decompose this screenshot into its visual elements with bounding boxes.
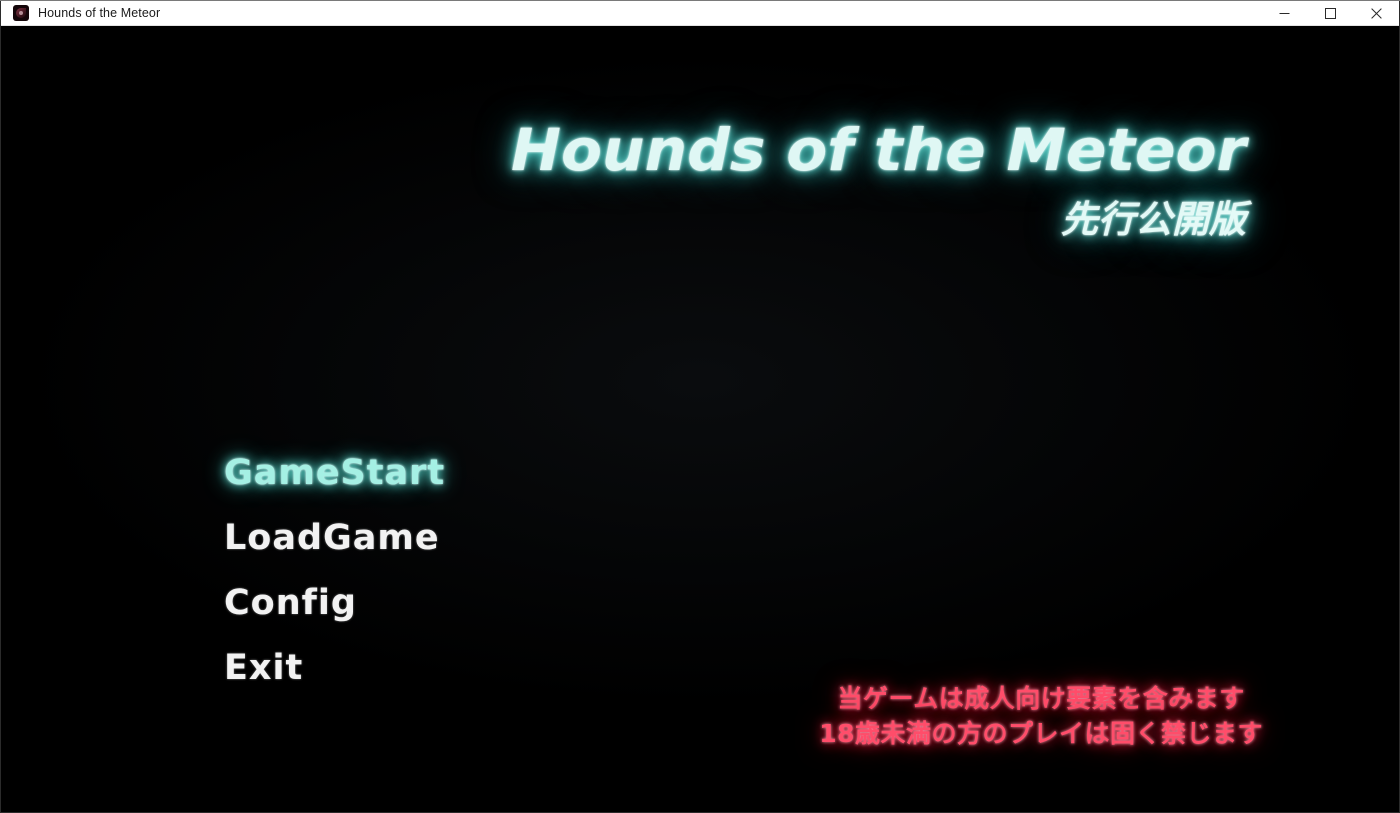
menu-item-game-start[interactable]: GameStart xyxy=(224,456,445,521)
age-warning-line-2: 18歳未満の方のプレイは固く禁じます xyxy=(819,716,1263,751)
game-logo: Hounds of the Meteor 先行公開版 xyxy=(1,121,1246,238)
maximize-icon xyxy=(1325,8,1336,19)
title-bar[interactable]: Hounds of the Meteor xyxy=(1,1,1399,26)
age-warning-notice: 当ゲームは成人向け要素を含みます 18歳未満の方のプレイは固く禁じます xyxy=(819,681,1263,751)
minimize-icon xyxy=(1279,8,1290,19)
main-menu: GameStart LoadGame Config Exit xyxy=(224,456,445,716)
menu-item-load-game[interactable]: LoadGame xyxy=(224,521,445,586)
close-icon xyxy=(1371,8,1382,19)
game-logo-subtitle: 先行公開版 xyxy=(1,201,1246,238)
close-button[interactable] xyxy=(1353,1,1399,26)
menu-item-exit[interactable]: Exit xyxy=(224,651,445,716)
age-warning-line-1: 当ゲームは成人向け要素を含みます xyxy=(819,681,1263,716)
window-controls xyxy=(1261,1,1399,26)
minimize-button[interactable] xyxy=(1261,1,1307,26)
maximize-button[interactable] xyxy=(1307,1,1353,26)
app-icon xyxy=(13,5,29,21)
application-window: Hounds of the Meteor Hounds xyxy=(0,0,1400,813)
menu-item-config[interactable]: Config xyxy=(224,586,445,651)
game-viewport[interactable]: Hounds of the Meteor 先行公開版 GameStart Loa… xyxy=(1,26,1399,812)
game-logo-title: Hounds of the Meteor xyxy=(1,121,1246,179)
window-title: Hounds of the Meteor xyxy=(38,6,160,20)
